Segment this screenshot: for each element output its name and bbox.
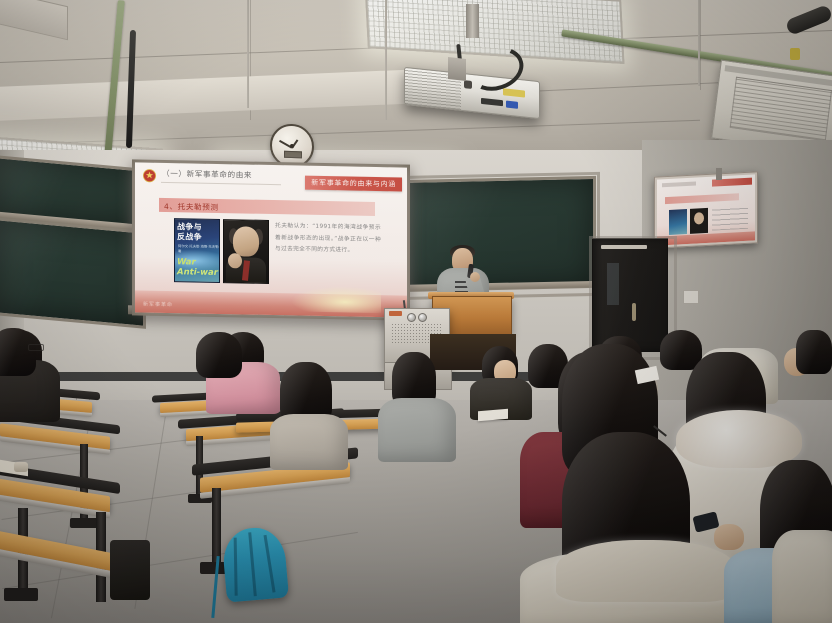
monitor-bracket [716, 168, 722, 180]
book-subtitle: 阿尔文·托夫勒 海蒂·托夫勒 著 [178, 243, 219, 254]
suspension-rod-4 [698, 0, 700, 86]
slide-content: （一）新军事革命的由来 新军事革命的由来与内涵 4、托夫勒预测 战争与 反战争 … [135, 162, 407, 317]
slide-body-text: 托夫勒认为：“1991年的海湾战争预示着新战争形态的出现。”战争正在以一种与过去… [275, 221, 381, 258]
glasses-icon [28, 344, 44, 351]
projector-hotspot [291, 285, 381, 313]
slide-footer-text: 新军事革命 [143, 301, 173, 309]
bag [110, 540, 150, 600]
slide-title-banner: 新军事革命的由来与内涵 [305, 176, 402, 192]
student-beige-knit [772, 530, 832, 623]
national-emblem-icon [142, 168, 157, 182]
blackboard-frame-center [394, 172, 600, 300]
lecturer-hand [470, 272, 480, 282]
list-item [796, 330, 832, 374]
student-grey-hoodie [378, 398, 456, 462]
slide-header-underline [161, 182, 281, 185]
suspension-rod-3 [466, 4, 479, 38]
classroom-photo: （一）新军事革命的由来 新军事革命的由来与内涵 4、托夫勒预测 战争与 反战争 … [0, 0, 832, 623]
projection-screen: （一）新军事革命的由来 新军事革命的由来与内涵 4、托夫勒预测 战争与 反战争 … [132, 159, 410, 320]
student-hand [714, 524, 744, 550]
ac-yellow-marker [790, 48, 800, 60]
door-handle-icon[interactable] [632, 303, 636, 321]
book-cover-image: 战争与 反战争 阿尔文·托夫勒 海蒂·托夫勒 著 War Anti-war [174, 218, 220, 283]
projector-mount [448, 57, 466, 81]
list-item [0, 328, 36, 376]
slide-header: （一）新军事革命的由来 [162, 168, 252, 181]
slide-section-bar: 4、托夫勒预测 [159, 198, 375, 216]
suspension-rod-2 [385, 0, 387, 120]
list-item [196, 332, 242, 378]
slide-section-label: 4、托夫勒预测 [164, 200, 219, 212]
side-monitor-screen [657, 174, 755, 245]
portrait-photo [223, 219, 269, 284]
clock-center-dot [290, 144, 294, 148]
classroom-door[interactable] [592, 238, 668, 352]
suspension-rod [247, 0, 249, 108]
book-english-line2: Anti-war [177, 267, 218, 278]
desk-foot [70, 518, 98, 528]
book-title-line2: 反战争 [177, 231, 202, 242]
cup [14, 462, 28, 472]
knit-collar [556, 540, 736, 602]
clock-date-window [284, 151, 302, 159]
desk-foot [4, 588, 38, 601]
fur-collar [676, 410, 802, 468]
student-mid-left [270, 414, 348, 470]
blackboard-lower-left [0, 217, 146, 329]
book-english-line1: War [177, 257, 196, 267]
light-switch[interactable] [683, 290, 699, 304]
